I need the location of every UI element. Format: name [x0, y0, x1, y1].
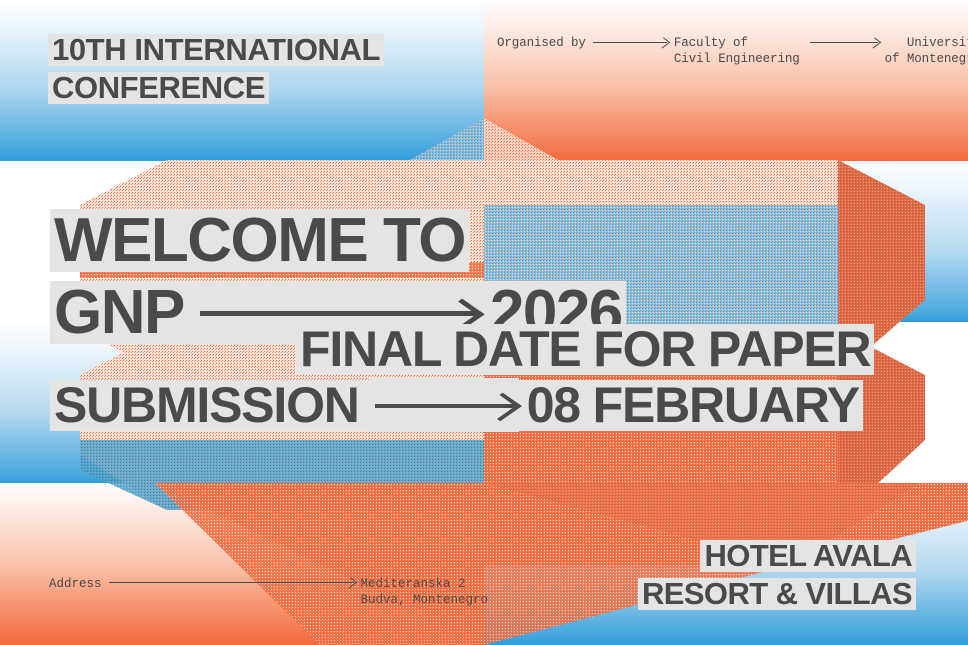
organised-by-label: Organised by — [497, 36, 586, 52]
organiser-faculty-line-2: Civil Engineering — [674, 52, 800, 68]
organiser-university-line-1: University — [885, 36, 968, 52]
conference-title-line-1: 10TH INTERNATIONAL — [48, 32, 468, 68]
organiser-university-line-2: of Montenegro — [885, 52, 968, 68]
organiser-faculty: Faculty of Civil Engineering — [674, 36, 800, 67]
address-street: Mediteranska 2 — [361, 576, 489, 592]
venue-line-2: RESORT & VILLAS — [638, 576, 916, 612]
organisers-credit: Organised by Faculty of Civil Engineerin… — [497, 36, 952, 67]
organiser-university: University of Montenegro — [885, 36, 968, 67]
address-label: Address — [49, 576, 102, 592]
conference-poster: 10TH INTERNATIONAL CONFERENCE Organised … — [0, 0, 968, 645]
address-block: Address Mediteranska 2 Budva, Montenegro — [49, 576, 479, 609]
long-arrow-right-icon — [109, 576, 354, 588]
venue-block: HOTEL AVALA RESORT & VILLAS — [638, 538, 916, 614]
long-arrow-right-icon — [369, 378, 519, 432]
venue-line-1: HOTEL AVALA — [638, 538, 916, 574]
secondary-headline-line-2-suffix: 08 FEBRUARY — [519, 380, 863, 431]
secondary-headline-line-2-prefix: SUBMISSION — [50, 380, 369, 431]
secondary-headline: FINAL DATE FOR PAPER — [296, 320, 874, 378]
page-title: 10TH INTERNATIONAL CONFERENCE — [48, 32, 468, 108]
organiser-faculty-line-1: Faculty of — [674, 36, 800, 52]
long-arrow-right-icon — [593, 36, 667, 48]
secondary-headline-line-2-wrap: SUBMISSION 08 FEBRUARY — [50, 378, 863, 432]
conference-title-line-2: CONFERENCE — [48, 70, 468, 106]
secondary-headline-line-1: FINAL DATE FOR PAPER — [296, 320, 874, 378]
long-arrow-right-icon — [810, 36, 878, 48]
address-city: Budva, Montenegro — [361, 592, 489, 608]
primary-headline-line-1: WELCOME TO — [50, 205, 626, 276]
address-value: Mediteranska 2 Budva, Montenegro — [361, 576, 489, 609]
